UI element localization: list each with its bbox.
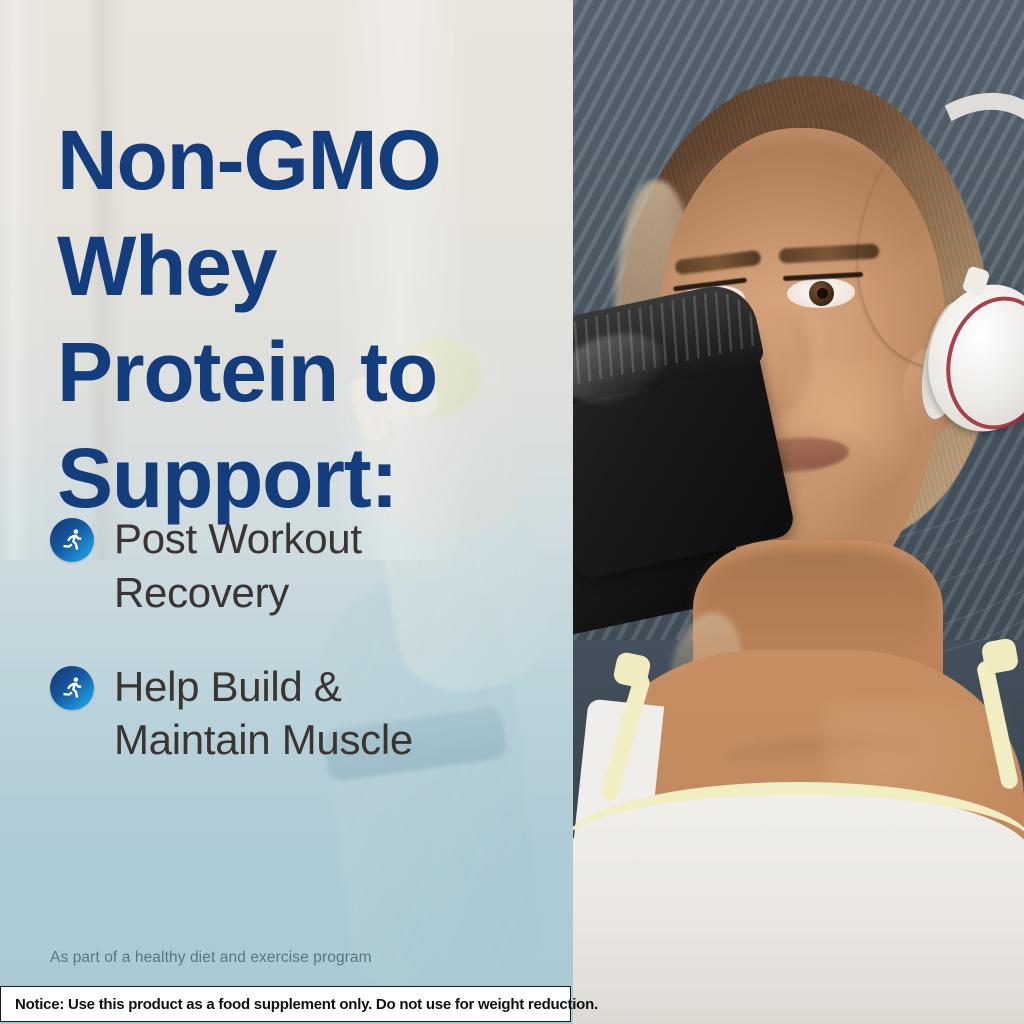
product-marketing-image: Non-GMO Whey Protein to Support: Post Wo… [0,0,1024,1024]
benefit-text: Help Build & Maintain Muscle [114,660,413,768]
benefit-item-post-workout-recovery: Post Workout Recovery [50,512,550,620]
running-person-icon [50,666,94,710]
page-title: Non-GMO Whey Protein to Support: [57,108,527,531]
benefit-2-line-1: Help Build & [114,660,413,714]
disclaimer-text: As part of a healthy diet and exercise p… [50,949,372,967]
benefit-1-line-1: Post Workout [114,512,362,566]
benefit-text: Post Workout Recovery [114,512,362,620]
benefit-item-help-build-maintain-muscle: Help Build & Maintain Muscle [50,660,550,768]
benefit-1-line-2: Recovery [114,566,362,620]
notice-box: Notice: Use this product as a food suppl… [0,986,571,1022]
notice-text: Notice: Use this product as a food suppl… [15,996,598,1013]
benefits-list: Post Workout Recovery Help Build & Maint… [50,512,550,807]
benefit-2-line-2: Maintain Muscle [114,713,413,767]
lifestyle-photo [573,0,1024,1024]
headline-line-1: Non-GMO [57,108,527,214]
running-person-icon [50,518,94,562]
headline-line-2: Whey [57,214,527,320]
left-content-panel: Non-GMO Whey Protein to Support: Post Wo… [0,0,573,1024]
headline-line-3: Protein to [57,320,527,426]
